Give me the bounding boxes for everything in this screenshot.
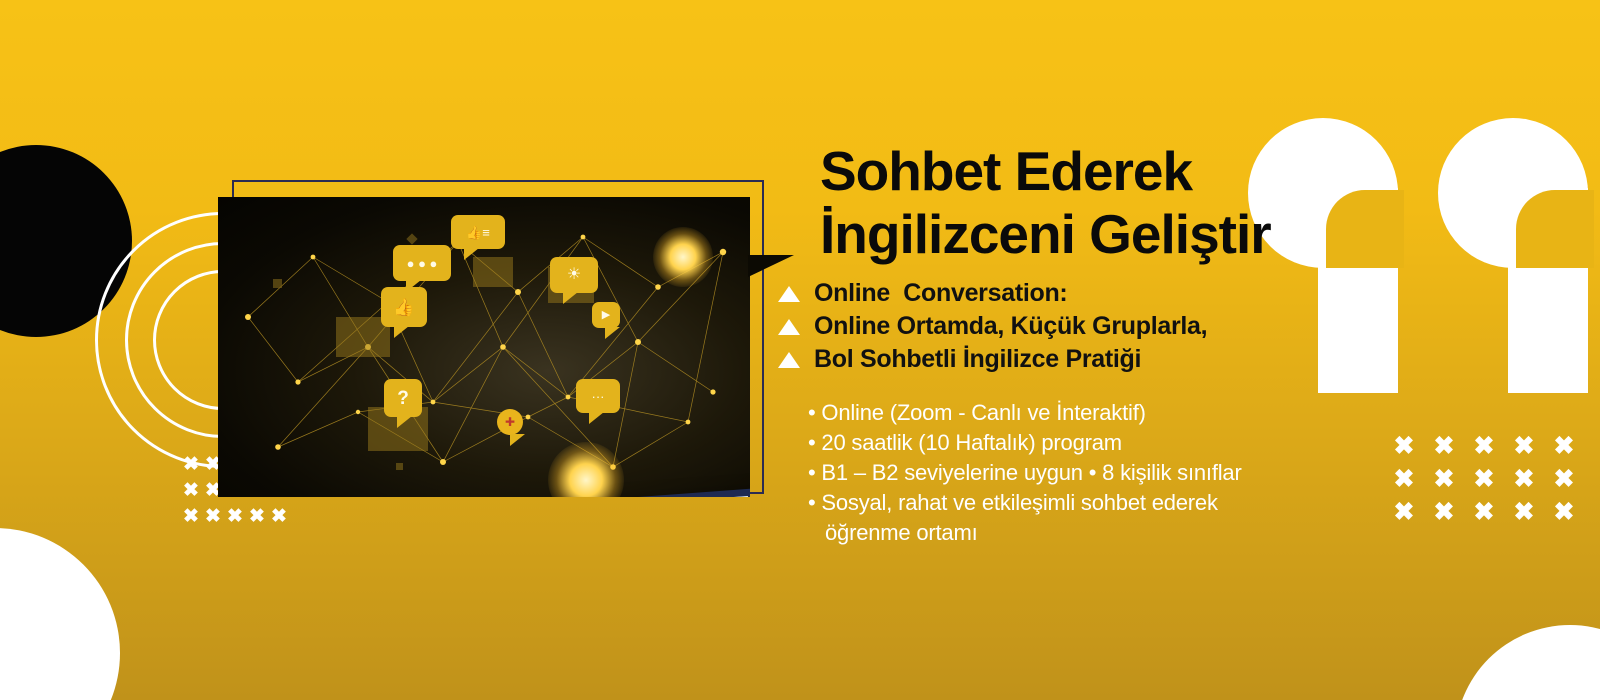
x-mark-icon: ✖ xyxy=(1504,467,1544,500)
x-mark-icon: ✖ xyxy=(1464,467,1504,500)
triangle-bullet-icon xyxy=(778,286,800,302)
photo-card: ● ● ● 👍≡ 👍 ☀ ▶ ? ··· ✚ xyxy=(218,197,750,497)
x-mark-icon: ✖ xyxy=(1504,434,1544,467)
x-mark-icon: ✖ xyxy=(268,507,290,533)
x-mark-icon: ✖ xyxy=(1464,434,1504,467)
square-dot-2 xyxy=(396,463,403,470)
bubble-thumbs-lines: 👍≡ xyxy=(451,215,505,249)
lightbulb-icon: ☀ xyxy=(550,257,598,293)
triangle-bullet-icon xyxy=(778,319,800,335)
page-title: Sohbet Ederek İngilizceni Geliştir xyxy=(820,140,1580,265)
triangle-bullet-icon xyxy=(778,352,800,368)
x-mark-icon: ✖ xyxy=(202,507,224,533)
medal-icon: ✚ xyxy=(497,409,523,435)
detail-row-continuation: öğrenme ortamı xyxy=(808,518,1448,548)
x-mark-icon: ✖ xyxy=(1464,500,1504,533)
thumbs-up-lines-icon: 👍≡ xyxy=(451,215,505,249)
participant-tile xyxy=(687,496,750,497)
question-icon: ? xyxy=(384,379,422,417)
bubble-lightbulb: ☀ xyxy=(550,257,598,293)
detail-row: • Sosyal, rahat ve etkileşimli sohbet ed… xyxy=(808,488,1448,518)
x-mark-icon: ✖ xyxy=(246,507,268,533)
feature-label: Online Conversation: xyxy=(814,279,1067,308)
square-dot-1 xyxy=(273,279,282,288)
x-mark-icon: ✖ xyxy=(1504,500,1544,533)
x-mark-icon: ✖ xyxy=(1544,434,1584,467)
feature-row: Online Conversation: xyxy=(778,277,1398,310)
ellipsis-icon: ··· xyxy=(576,379,620,413)
x-mark-icon: ✖ xyxy=(1544,467,1584,500)
x-mark-icon: ✖ xyxy=(180,507,202,533)
x-mark-icon: ✖ xyxy=(180,481,202,507)
bubble-thumbs-up: 👍 xyxy=(381,287,427,327)
feature-row: Bol Sohbetli İngilizce Pratiği xyxy=(778,343,1398,376)
feature-list: Online Conversation: Online Ortamda, Küç… xyxy=(778,277,1398,376)
light-glow-2 xyxy=(653,227,713,287)
dots-icon: ● ● ● xyxy=(393,245,451,281)
bubble-ellipsis: ··· xyxy=(576,379,620,413)
x-mark-icon: ✖ xyxy=(224,507,246,533)
white-circle-bottom-right-decor xyxy=(1455,625,1600,700)
play-icon: ▶ xyxy=(592,302,620,328)
detail-row: • 20 saatlik (10 Haftalık) program xyxy=(808,428,1448,458)
bubble-medal: ✚ xyxy=(497,409,523,435)
promo-banner: ✖✖✖✖✖✖✖✖✖✖✖✖✖✖✖ ✖✖✖✖✖✖✖✖✖✖✖✖✖✖✖ xyxy=(0,0,1600,700)
feature-label: Online Ortamda, Küçük Gruplarla, xyxy=(814,312,1207,341)
feature-label: Bol Sohbetli İngilizce Pratiği xyxy=(814,345,1141,374)
detail-row: • B1 – B2 seviyelerine uygun • 8 kişilik… xyxy=(808,458,1448,488)
thumbs-up-icon: 👍 xyxy=(381,287,427,327)
x-mark-icon: ✖ xyxy=(1544,500,1584,533)
x-mark-icon: ✖ xyxy=(180,455,202,481)
white-circle-bottom-left-decor xyxy=(0,528,120,700)
detail-list: • Online (Zoom - Canlı ve İnteraktif) • … xyxy=(808,398,1448,548)
detail-row: • Online (Zoom - Canlı ve İnteraktif) xyxy=(808,398,1448,428)
bubble-question: ? xyxy=(384,379,422,417)
bubble-dots: ● ● ● xyxy=(393,245,451,281)
bubble-play: ▶ xyxy=(592,302,620,328)
feature-row: Online Ortamda, Küçük Gruplarla, xyxy=(778,310,1398,343)
